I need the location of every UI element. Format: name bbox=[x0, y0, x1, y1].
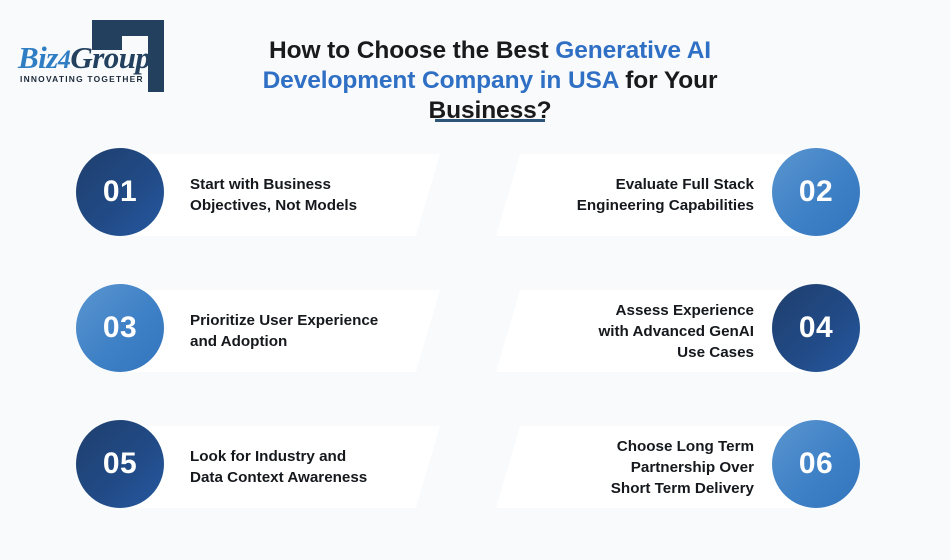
step-card-01[interactable]: 01 Start with Business Objectives, Not M… bbox=[76, 148, 440, 236]
step-text-line: Short Term Delivery bbox=[611, 478, 754, 499]
title-part-1: How to Choose the Best bbox=[269, 37, 555, 64]
step-text-line: Evaluate Full Stack bbox=[616, 174, 754, 195]
step-text-line: Engineering Capabilities bbox=[577, 195, 754, 216]
logo-word-biz: Biz bbox=[18, 40, 58, 75]
step-text: Choose Long Term Partnership Over Short … bbox=[536, 426, 754, 508]
step-text-line: Look for Industry and bbox=[190, 446, 346, 467]
steps-row: 01 Start with Business Objectives, Not M… bbox=[0, 148, 950, 248]
step-text-line: Partnership Over bbox=[631, 457, 754, 478]
step-card-04[interactable]: 04 Assess Experience with Advanced GenAI… bbox=[496, 284, 860, 372]
step-number-badge: 05 bbox=[76, 420, 164, 508]
step-text-line: Objectives, Not Models bbox=[190, 195, 357, 216]
step-text-line: Assess Experience bbox=[616, 300, 754, 321]
step-text: Look for Industry and Data Context Aware… bbox=[190, 426, 410, 508]
step-number-badge: 06 bbox=[772, 420, 860, 508]
step-text: Assess Experience with Advanced GenAI Us… bbox=[536, 290, 754, 372]
logo-tagline: INNOVATING TOGETHER bbox=[20, 74, 144, 84]
step-text: Evaluate Full Stack Engineering Capabili… bbox=[536, 154, 754, 236]
step-card-03[interactable]: 03 Prioritize User Experience and Adopti… bbox=[76, 284, 440, 372]
step-card-05[interactable]: 05 Look for Industry and Data Context Aw… bbox=[76, 420, 440, 508]
step-text-line: and Adoption bbox=[190, 331, 287, 352]
step-text-line: Prioritize User Experience bbox=[190, 310, 378, 331]
step-number-badge: 03 bbox=[76, 284, 164, 372]
step-card-06[interactable]: 06 Choose Long Term Partnership Over Sho… bbox=[496, 420, 860, 508]
step-number-badge: 01 bbox=[76, 148, 164, 236]
brand-logo: Biz4Group INNOVATING TOGETHER bbox=[18, 20, 168, 92]
steps-row: 03 Prioritize User Experience and Adopti… bbox=[0, 284, 950, 384]
logo-word-four: 4 bbox=[58, 45, 71, 74]
step-number-badge: 04 bbox=[772, 284, 860, 372]
step-number-badge: 02 bbox=[772, 148, 860, 236]
step-text-line: Start with Business bbox=[190, 174, 331, 195]
logo-word-group: Group bbox=[70, 40, 150, 75]
step-text-line: Choose Long Term bbox=[617, 436, 754, 457]
title-block: How to Choose the Best Generative AI Dev… bbox=[200, 36, 780, 126]
logo-wordmark: Biz4Group bbox=[18, 40, 150, 74]
steps-grid: 01 Start with Business Objectives, Not M… bbox=[0, 148, 950, 560]
title-underline bbox=[435, 119, 545, 122]
steps-row: 05 Look for Industry and Data Context Aw… bbox=[0, 420, 950, 520]
step-text: Start with Business Objectives, Not Mode… bbox=[190, 154, 410, 236]
step-text-line: with Advanced GenAI bbox=[598, 321, 754, 342]
step-card-02[interactable]: 02 Evaluate Full Stack Engineering Capab… bbox=[496, 148, 860, 236]
step-text-line: Data Context Awareness bbox=[190, 467, 367, 488]
page-title: How to Choose the Best Generative AI Dev… bbox=[200, 36, 780, 126]
step-text: Prioritize User Experience and Adoption bbox=[190, 290, 410, 372]
header: Biz4Group INNOVATING TOGETHER How to Cho… bbox=[0, 0, 950, 135]
step-text-line: Use Cases bbox=[677, 342, 754, 363]
